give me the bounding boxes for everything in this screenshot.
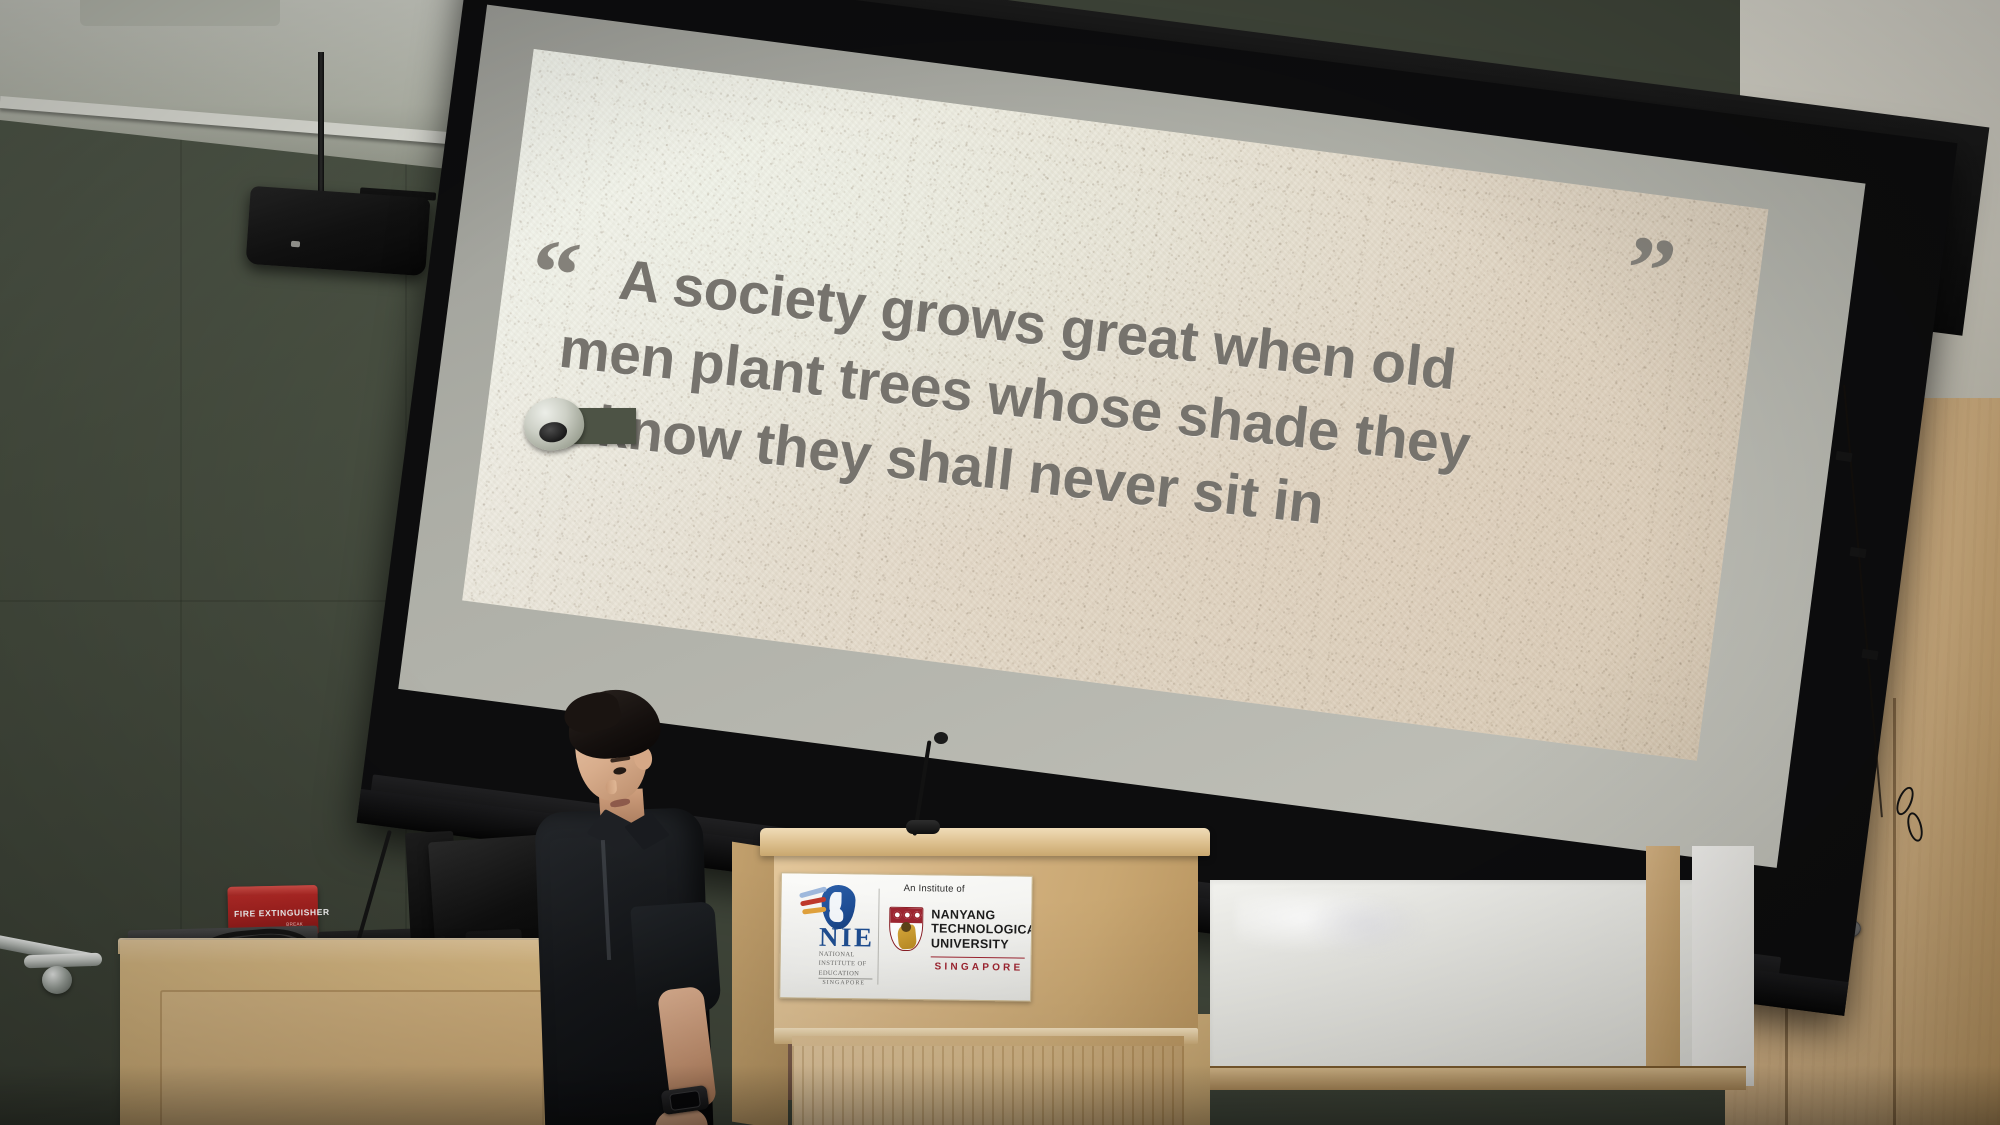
ntu-name: NANYANG TECHNOLOGICAL UNIVERSITY bbox=[931, 907, 1028, 951]
ntu-name-line-3: UNIVERSITY bbox=[931, 936, 1027, 952]
lecture-hall-photo: “ ” A society grows great when old men p… bbox=[0, 0, 2000, 1125]
ntu-country: SINGAPORE bbox=[935, 961, 1024, 973]
nie-name-line-2: INSTITUTE OF bbox=[819, 959, 875, 969]
ntu-lion-head-icon bbox=[901, 922, 911, 932]
ntu-name-line-1: NANYANG bbox=[931, 907, 1027, 923]
whiteboard-post bbox=[1646, 846, 1680, 1086]
nie-logo: NIE NATIONAL INSTITUTE OF EDUCATION SING… bbox=[788, 881, 875, 990]
camera-lens-icon bbox=[538, 420, 569, 444]
ntu-rose-icon-2 bbox=[903, 911, 911, 919]
presenter-eye bbox=[613, 766, 627, 775]
fire-cabinet-lid bbox=[227, 885, 317, 896]
lectern-fluting bbox=[792, 1046, 1184, 1125]
whiteboard-reflection-2 bbox=[1306, 900, 1426, 955]
right-wall-strip bbox=[1692, 846, 1754, 1086]
nie-country: SINGAPORE bbox=[822, 980, 865, 987]
ntu-crest-icon bbox=[889, 907, 924, 951]
an-institute-of-label: An Institute of bbox=[904, 883, 965, 895]
ntu-rule bbox=[931, 956, 1025, 959]
speaker-led-icon bbox=[291, 241, 300, 248]
nie-wordmark: NIE bbox=[819, 922, 875, 954]
institution-sign: NIE NATIONAL INSTITUTE OF EDUCATION SING… bbox=[779, 872, 1033, 1002]
sign-divider bbox=[877, 889, 879, 985]
ceiling-light-recess bbox=[80, 0, 280, 26]
handrail-mount bbox=[42, 966, 72, 994]
ntu-logo: An Institute of NANYANG TECHNOLOGICAL UN… bbox=[886, 881, 1026, 995]
lectern-top bbox=[760, 828, 1210, 856]
ntu-rose-icon-1 bbox=[893, 911, 901, 919]
nie-full-name: NATIONAL INSTITUTE OF EDUCATION bbox=[818, 950, 874, 979]
whiteboard-pen-tray bbox=[1206, 1066, 1746, 1090]
smartwatch-face-icon bbox=[669, 1090, 701, 1111]
ceiling-speaker-left bbox=[245, 186, 430, 276]
lectern-microphone-base bbox=[906, 820, 940, 834]
ntu-rose-icon-3 bbox=[913, 911, 921, 919]
teacher-desk-front-panel bbox=[160, 990, 544, 1125]
handrail-bar-segment bbox=[24, 953, 102, 969]
fire-extinguisher-label: FIRE EXTINGUISHER bbox=[234, 907, 330, 919]
nie-face-highlight-icon-2 bbox=[829, 908, 843, 922]
presenter-nose bbox=[605, 780, 617, 795]
ntu-shield-icon bbox=[889, 907, 924, 951]
lectern-microphone-head-icon bbox=[934, 732, 948, 744]
ntu-name-line-2: TECHNOLOGICAL bbox=[931, 922, 1027, 938]
presentation-slide: “ ” A society grows great when old men p… bbox=[462, 49, 1768, 761]
speaker-mount-pole bbox=[318, 52, 324, 192]
